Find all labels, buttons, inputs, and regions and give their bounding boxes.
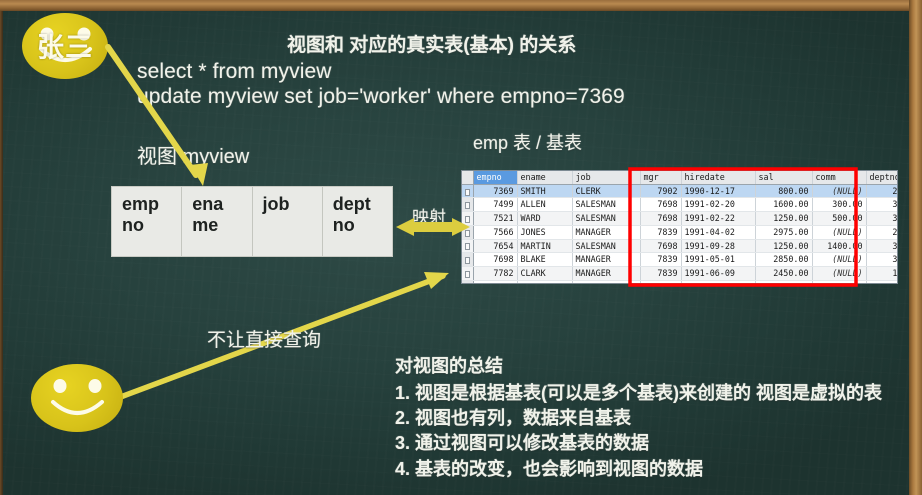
emp-grid-cell-empno[interactable]: 7369 bbox=[473, 184, 517, 198]
emp-grid-header-ename[interactable]: ename bbox=[517, 171, 572, 184]
emp-grid-header-job[interactable]: job bbox=[572, 171, 640, 184]
emp-grid-cell-deptno[interactable]: 20 bbox=[866, 225, 898, 239]
emp-grid-cell-empno[interactable]: 7499 bbox=[473, 198, 517, 212]
emp-grid-cell-mgr[interactable]: 7839 bbox=[640, 253, 681, 267]
board-frame-right bbox=[909, 0, 922, 495]
emp-grid-cell-mgr[interactable]: 7698 bbox=[640, 212, 681, 226]
summary-item-1: 1. 视图是根据基表(可以是多个基表)来创建的 视图是虚拟的表 bbox=[395, 381, 882, 406]
emp-grid-header-comm[interactable]: comm bbox=[812, 171, 866, 184]
smiley-face-icon bbox=[22, 13, 108, 79]
emp-grid-row[interactable]: 7782CLARKMANAGER78391991-06-092450.00(NU… bbox=[462, 266, 898, 280]
emp-grid-row-handle[interactable] bbox=[462, 212, 473, 226]
myview-column-job-line1: job bbox=[263, 194, 322, 215]
emp-grid-cell-deptno[interactable]: 20 bbox=[866, 184, 898, 198]
myview-column-empno: emp no bbox=[112, 187, 182, 256]
emp-grid-row-handle[interactable] bbox=[462, 266, 473, 280]
emp-grid-cell-hiredate[interactable]: 1991-02-22 bbox=[681, 212, 755, 226]
emp-grid-cell-deptno[interactable]: 30 bbox=[866, 212, 898, 226]
emp-grid-cell-empno[interactable]: 7566 bbox=[473, 225, 517, 239]
emp-grid-corner-cell bbox=[462, 171, 473, 184]
emp-grid-cell-comm[interactable]: (NULL) bbox=[812, 266, 866, 280]
emp-grid-cell-ename[interactable]: ALLEN bbox=[517, 198, 572, 212]
emp-grid-cell-comm[interactable]: (NULL) bbox=[812, 184, 866, 198]
myview-column-ename: ena me bbox=[182, 187, 252, 256]
emp-grid-cell-hiredate[interactable]: 1991-05-01 bbox=[681, 253, 755, 267]
emp-grid-header-hiredate[interactable]: hiredate bbox=[681, 171, 755, 184]
emp-grid-cell-job[interactable]: SALESMAN bbox=[572, 239, 640, 253]
deny-query-label: 不让直接查询 bbox=[207, 325, 321, 352]
board-frame-top bbox=[0, 0, 922, 11]
emp-grid-cell-empno[interactable]: 7788 bbox=[473, 280, 517, 284]
emp-grid-cell-job[interactable]: SALESMAN bbox=[572, 212, 640, 226]
avatar-user[interactable] bbox=[31, 364, 123, 432]
emp-grid-cell-mgr[interactable]: 7566 bbox=[640, 280, 681, 284]
emp-grid-cell-ename[interactable]: MARTIN bbox=[517, 239, 572, 253]
emp-grid-row[interactable]: 7566JONESMANAGER78391991-04-022975.00(NU… bbox=[462, 225, 898, 239]
emp-grid-cell-sal[interactable]: 2975.00 bbox=[755, 225, 812, 239]
emp-grid-cell-deptno[interactable]: 20 bbox=[866, 280, 898, 284]
emp-grid-cell-ename[interactable]: BLAKE bbox=[517, 253, 572, 267]
emp-grid-cell-mgr[interactable]: 7698 bbox=[640, 198, 681, 212]
emp-grid-cell-ename[interactable]: SMITH bbox=[517, 184, 572, 198]
emp-grid-cell-hiredate[interactable]: 1991-04-02 bbox=[681, 225, 755, 239]
emp-grid-cell-deptno[interactable]: 30 bbox=[866, 253, 898, 267]
summary-block: 对视图的总结 1. 视图是根据基表(可以是多个基表)来创建的 视图是虚拟的表 2… bbox=[395, 352, 882, 482]
myview-column-ename-line2: me bbox=[192, 215, 251, 236]
emp-grid-cell-job[interactable]: MANAGER bbox=[572, 266, 640, 280]
emp-grid-row[interactable]: 7654MARTINSALESMAN76981991-09-281250.001… bbox=[462, 239, 898, 253]
emp-grid-cell-sal[interactable]: 1250.00 bbox=[755, 239, 812, 253]
emp-grid-cell-empno[interactable]: 7698 bbox=[473, 253, 517, 267]
summary-item-2: 2. 视图也有列，数据来自基表 bbox=[395, 406, 882, 431]
emp-grid-cell-job[interactable]: MANAGER bbox=[572, 225, 640, 239]
emp-data-grid[interactable]: empno ename job mgr hiredate sal comm de… bbox=[461, 170, 898, 284]
emp-grid-cell-comm[interactable]: (NULL) bbox=[812, 225, 866, 239]
myview-column-deptno-line2: no bbox=[333, 215, 392, 236]
emp-grid-cell-ename[interactable]: SCOTT bbox=[517, 280, 572, 284]
myview-column-deptno-line1: dept bbox=[333, 194, 392, 215]
emp-grid-cell-mgr[interactable]: 7902 bbox=[640, 184, 681, 198]
emp-grid-cell-ename[interactable]: WARD bbox=[517, 212, 572, 226]
emp-grid-cell-job[interactable]: MANAGER bbox=[572, 253, 640, 267]
emp-grid-cell-sal[interactable]: 2850.00 bbox=[755, 253, 812, 267]
emp-grid-cell-empno[interactable]: 7654 bbox=[473, 239, 517, 253]
emp-grid-header-sal[interactable]: sal bbox=[755, 171, 812, 184]
emp-grid-cell-sal[interactable]: 1600.00 bbox=[755, 198, 812, 212]
myview-column-deptno: dept no bbox=[323, 187, 392, 256]
myview-column-job: job bbox=[253, 187, 323, 256]
emp-table-label: emp 表 / 基表 bbox=[473, 129, 582, 155]
summary-item-3: 3. 通过视图可以修改基表的数据 bbox=[395, 431, 882, 456]
myview-table: emp no ena me job dept no bbox=[111, 186, 393, 257]
summary-item-4: 4. 基表的改变，也会影响到视图的数据 bbox=[395, 457, 882, 482]
emp-grid-row-handle[interactable] bbox=[462, 198, 473, 212]
sql-statement-select: select * from myview bbox=[137, 60, 332, 84]
emp-grid-cell-empno[interactable]: 7782 bbox=[473, 266, 517, 280]
emp-grid-cell-hiredate[interactable]: 1990-12-17 bbox=[681, 184, 755, 198]
emp-grid-cell-sal[interactable]: 1250.00 bbox=[755, 212, 812, 226]
emp-grid-cell-hiredate[interactable]: 1997-04-19 bbox=[681, 280, 755, 284]
emp-grid-cell-ename[interactable]: JONES bbox=[517, 225, 572, 239]
emp-grid-cell-comm[interactable]: 500.00 bbox=[812, 212, 866, 226]
emp-grid-row-handle[interactable] bbox=[462, 225, 473, 239]
emp-grid-header-row: empno ename job mgr hiredate sal comm de… bbox=[462, 171, 898, 184]
emp-grid-cell-mgr[interactable]: 7698 bbox=[640, 239, 681, 253]
emp-grid-cell-job[interactable]: SALESMAN bbox=[572, 198, 640, 212]
emp-grid-cell-comm[interactable]: 1400.00 bbox=[812, 239, 866, 253]
emp-grid-body: 7369SMITHCLERK79021990-12-17800.00(NULL)… bbox=[462, 184, 898, 284]
emp-grid-cell-hiredate[interactable]: 1991-06-09 bbox=[681, 266, 755, 280]
smiley-face-icon bbox=[31, 364, 123, 432]
emp-grid-cell-deptno[interactable]: 10 bbox=[866, 266, 898, 280]
mapping-label: 映射 bbox=[412, 203, 446, 228]
emp-grid-row[interactable]: 7499ALLENSALESMAN76981991-02-201600.0030… bbox=[462, 198, 898, 212]
emp-grid-cell-job[interactable]: ANALYST bbox=[572, 280, 640, 284]
emp-grid-cell-hiredate[interactable]: 1991-02-20 bbox=[681, 198, 755, 212]
emp-grid-cell-comm[interactable]: 300.00 bbox=[812, 198, 866, 212]
emp-grid-cell-job[interactable]: CLERK bbox=[572, 184, 640, 198]
emp-grid-header-mgr[interactable]: mgr bbox=[640, 171, 681, 184]
emp-grid-row-handle[interactable] bbox=[462, 280, 473, 284]
myview-column-empno-line2: no bbox=[122, 215, 181, 236]
emp-grid-row-handle[interactable] bbox=[462, 239, 473, 253]
chalkboard-canvas: 张三 视图和 对应的真实表(基本) 的关系 select * from myvi… bbox=[0, 0, 922, 495]
emp-grid-row-handle[interactable] bbox=[462, 184, 473, 198]
emp-grid-row[interactable]: 7788SCOTTANALYST75661997-04-193000.00(NU… bbox=[462, 280, 898, 284]
emp-grid-cell-mgr[interactable]: 7839 bbox=[640, 266, 681, 280]
myview-column-ename-line1: ena bbox=[192, 194, 251, 215]
emp-grid-cell-sal[interactable]: 800.00 bbox=[755, 184, 812, 198]
emp-grid-header-empno[interactable]: empno bbox=[473, 171, 517, 184]
emp-grid-cell-comm[interactable]: (NULL) bbox=[812, 280, 866, 284]
summary-heading: 对视图的总结 bbox=[395, 352, 882, 378]
emp-data-table: empno ename job mgr hiredate sal comm de… bbox=[462, 171, 898, 284]
sql-statement-update: update myview set job='worker' where emp… bbox=[137, 85, 625, 109]
myview-column-empno-line1: emp bbox=[122, 194, 181, 215]
emp-grid-cell-mgr[interactable]: 7839 bbox=[640, 225, 681, 239]
page-title: 视图和 对应的真实表(基本) 的关系 bbox=[287, 30, 576, 57]
emp-grid-cell-ename[interactable]: CLARK bbox=[517, 266, 572, 280]
emp-grid-row[interactable]: 7521WARDSALESMAN76981991-02-221250.00500… bbox=[462, 212, 898, 226]
emp-grid-row-handle[interactable] bbox=[462, 253, 473, 267]
emp-grid-row[interactable]: 7369SMITHCLERK79021990-12-17800.00(NULL)… bbox=[462, 184, 898, 198]
emp-grid-cell-hiredate[interactable]: 1991-09-28 bbox=[681, 239, 755, 253]
board-frame-left bbox=[0, 0, 3, 495]
view-table-label: 视图 myview bbox=[137, 140, 249, 169]
emp-grid-cell-deptno[interactable]: 30 bbox=[866, 198, 898, 212]
avatar-zhangsan[interactable]: 张三 bbox=[22, 13, 108, 79]
emp-grid-cell-deptno[interactable]: 30 bbox=[866, 239, 898, 253]
emp-grid-cell-comm[interactable]: (NULL) bbox=[812, 253, 866, 267]
emp-grid-cell-sal[interactable]: 3000.00 bbox=[755, 280, 812, 284]
emp-grid-row[interactable]: 7698BLAKEMANAGER78391991-05-012850.00(NU… bbox=[462, 253, 898, 267]
emp-grid-cell-empno[interactable]: 7521 bbox=[473, 212, 517, 226]
emp-grid-header-deptno[interactable]: deptno bbox=[866, 171, 898, 184]
emp-grid-cell-sal[interactable]: 2450.00 bbox=[755, 266, 812, 280]
